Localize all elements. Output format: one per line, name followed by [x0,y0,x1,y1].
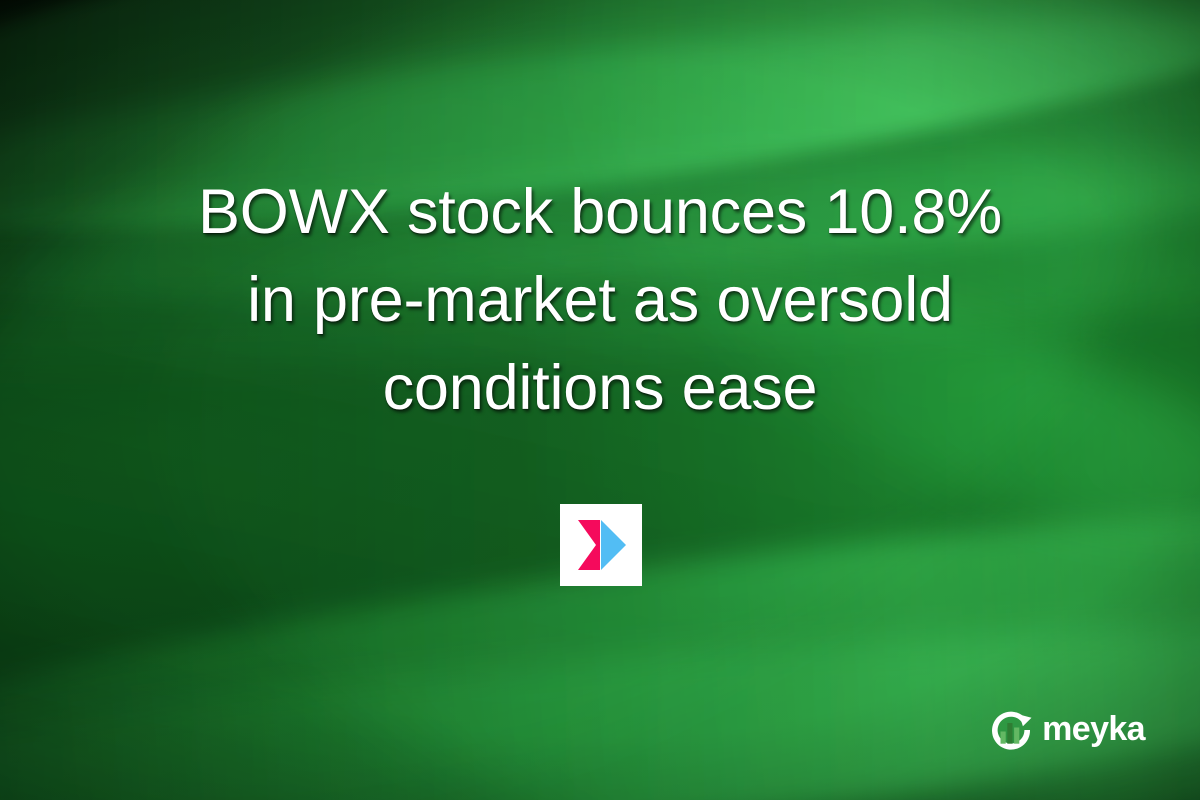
brand-name: meyka [1042,712,1145,748]
brand-watermark: meyka [986,705,1145,755]
double-chevron-right-logo-icon [570,514,632,576]
ticker-logo-badge [560,504,642,586]
background-light-streak [0,574,1200,800]
headline-text: BOWX stock bounces 10.8% in pre-market a… [60,168,1140,432]
news-card: BOWX stock bounces 10.8% in pre-market a… [0,0,1200,800]
circular-arrow-bar-chart-logo-icon [986,705,1036,755]
